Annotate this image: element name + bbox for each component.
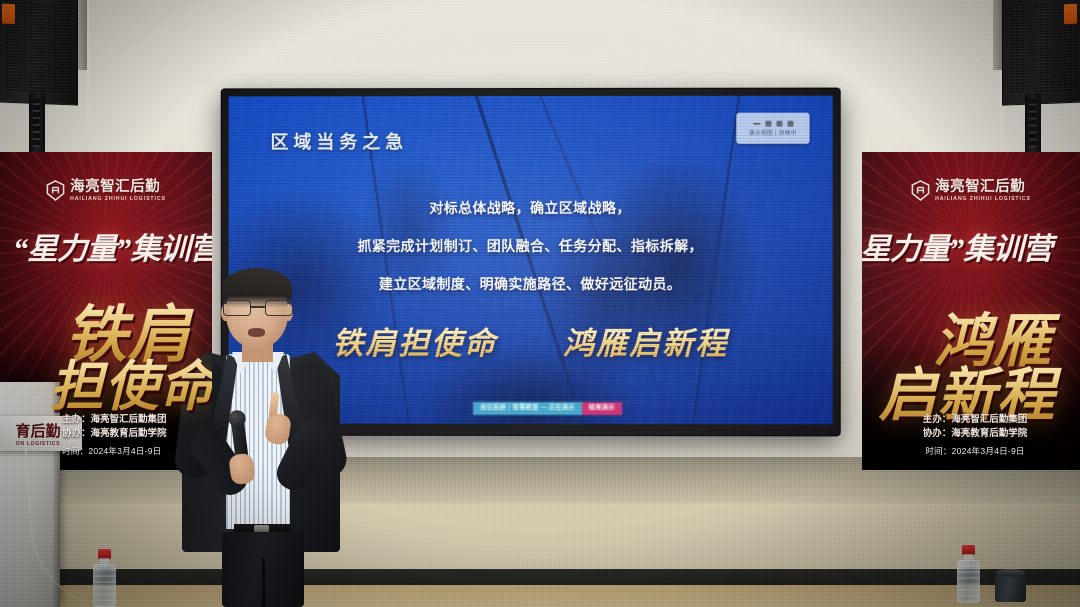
banner-logo-lockup: 海亮智汇后勤 HAILIANG ZHIHUI LOGISTICS	[0, 179, 212, 202]
mouth	[248, 328, 265, 337]
bottle-body	[93, 564, 116, 607]
floor	[0, 585, 1080, 607]
shield-logo-icon	[46, 180, 65, 201]
banner-time: 时间：2024年3月4日-9日	[62, 444, 212, 458]
water-bottle-right	[957, 545, 980, 603]
jbl-badge-icon	[2, 4, 15, 24]
logo-text-cn: 海亮智汇后勤	[70, 179, 160, 195]
event-banner-right: 海亮智汇后勤 HAILIANG ZHIHUI LOGISTICS “星力量”集训…	[862, 152, 1080, 470]
banner-camp-title: “星力量”集训营	[8, 224, 212, 268]
banner-cohost: 协办：海亮教育后勤学院	[870, 427, 1080, 441]
logo-text-en: HAILIANG ZHIHUI LOGISTICS	[70, 197, 166, 202]
wall-strip-right	[993, 0, 1002, 70]
hand-holding-microphone	[228, 452, 256, 485]
jbl-loudspeaker-left-icon	[0, 0, 78, 106]
jbl-badge-icon	[1064, 4, 1077, 24]
banner-host: 主办：海亮智汇后勤集团	[870, 413, 1080, 427]
speaker-mount-bracket	[1025, 93, 1041, 156]
jbl-loudspeaker-right-icon	[1002, 0, 1080, 106]
banner-footer-right: 主办：海亮智汇后勤集团 协办：海亮教育后勤学院 时间：2024年3月4日-9日	[862, 413, 1080, 458]
banner-footer-left: 主办：海亮智汇后勤集团 协办：海亮教育后勤学院 时间：2024年3月4日-9日	[0, 413, 212, 458]
leg-separation	[262, 558, 265, 607]
dark-cup	[995, 572, 1026, 602]
event-banner-left: 海亮智汇后勤 HAILIANG ZHIHUI LOGISTICS “星力量”集训…	[0, 152, 212, 470]
banner-host: 主办：海亮智汇后勤集团	[62, 413, 212, 427]
banner-time: 时间：2024年3月4日-9日	[870, 444, 1080, 458]
logo-text-en: HAILIANG ZHIHUI LOGISTICS	[935, 197, 1031, 202]
banner-camp-title: “星力量”集训营	[862, 224, 1060, 268]
banner-headline-line2: 担使命	[26, 342, 212, 421]
banner-cohost: 协办：海亮教育后勤学院	[62, 427, 212, 441]
banner-logo-lockup: 海亮智汇后勤 HAILIANG ZHIHUI LOGISTICS	[862, 179, 1080, 202]
conference-photo-scene: 海亮智汇后勤 HAILIANG ZHIHUI LOGISTICS “星力量”集训…	[0, 0, 1080, 607]
bottle-body	[957, 560, 980, 603]
baseboard	[0, 569, 1080, 585]
wall-strip-left	[78, 0, 87, 70]
water-bottle-left	[93, 549, 116, 607]
logo-text-cn: 海亮智汇后勤	[935, 179, 1025, 195]
eyeglasses-icon	[220, 300, 296, 317]
shield-logo-icon	[911, 180, 930, 201]
speaker-mount-bracket	[29, 93, 45, 156]
